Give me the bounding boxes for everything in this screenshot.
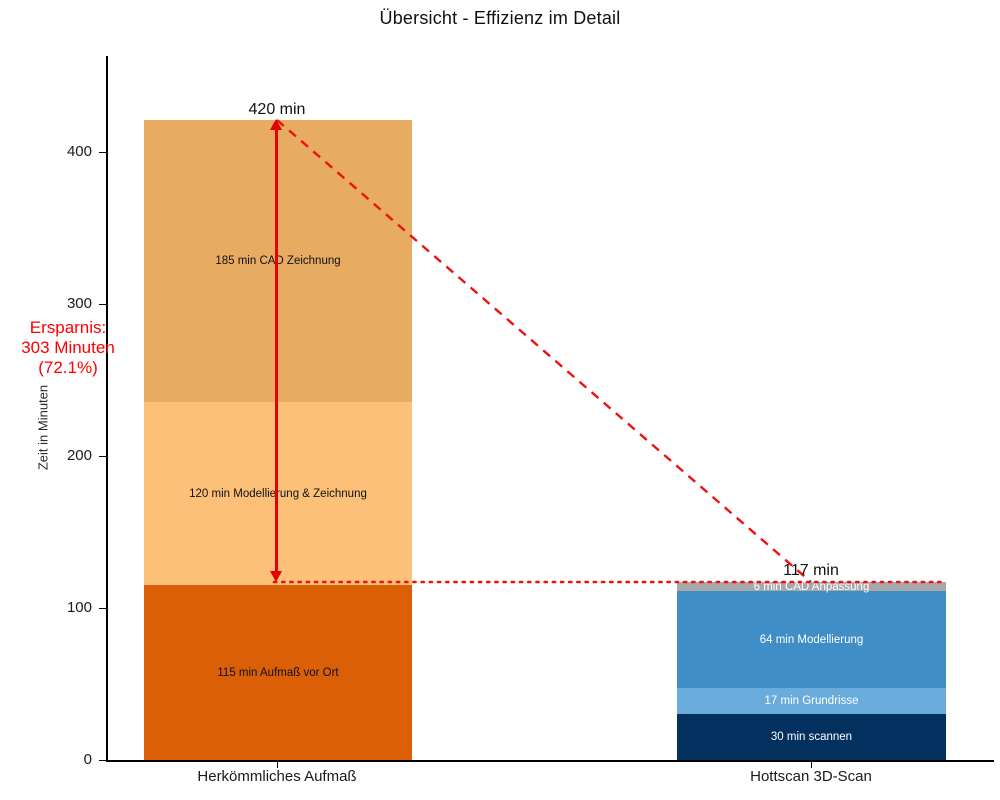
- bar-segment-label: 17 min Grundrisse: [765, 695, 859, 707]
- bar-segment-aufmass-vor-ort[interactable]: 115 min Aufmaß vor Ort: [144, 585, 412, 760]
- bar-segment-cad-anpassung[interactable]: 6 min CAD Anpassung: [677, 582, 946, 591]
- savings-arrow-head-top: [270, 119, 282, 130]
- chart-root: Übersicht - Effizienz im Detail 0 100 20…: [0, 0, 1000, 800]
- x-axis-spine: [106, 760, 994, 762]
- bar-segment-label: 30 min scannen: [771, 731, 852, 743]
- bar-segment-modellierung[interactable]: 64 min Modellierung: [677, 591, 946, 688]
- y-axis-title: Zeit in Minuten: [36, 358, 51, 498]
- y-tick-0: [99, 760, 106, 761]
- savings-line-1: Ersparnis:: [0, 318, 138, 338]
- savings-line-3: (72.1%): [0, 358, 138, 378]
- x-axis-label-traditional: Herkömmliches Aufmaß: [112, 768, 442, 785]
- x-tick-1: [811, 761, 812, 768]
- bar-segment-scannen[interactable]: 30 min scannen: [677, 714, 946, 760]
- y-axis-spine: [106, 56, 108, 761]
- bar-segment-label: 120 min Modellierung & Zeichnung: [189, 488, 367, 500]
- savings-line-2: 303 Minuten: [0, 338, 138, 358]
- chart-title: Übersicht - Effizienz im Detail: [0, 8, 1000, 29]
- bar-segment-modellierung-zeichnung[interactable]: 120 min Modellierung & Zeichnung: [144, 402, 412, 585]
- y-tick-label-100: 100: [32, 599, 92, 616]
- y-tick-200: [99, 456, 106, 457]
- bar-segment-label: 185 min CAD Zeichnung: [215, 255, 340, 267]
- y-tick-400: [99, 152, 106, 153]
- savings-arrow-head-bottom: [270, 571, 282, 582]
- total-label-traditional: 420 min: [207, 101, 347, 119]
- y-tick-label-0: 0: [32, 751, 92, 768]
- total-label-hottscan: 117 min: [741, 562, 881, 580]
- y-tick-100: [99, 608, 106, 609]
- y-tick-300: [99, 304, 106, 305]
- x-tick-0: [277, 761, 278, 768]
- bar-segment-grundrisse[interactable]: 17 min Grundrisse: [677, 688, 946, 714]
- bar-segment-label: 115 min Aufmaß vor Ort: [217, 667, 338, 679]
- bar-segment-label: 6 min CAD Anpassung: [754, 581, 870, 593]
- y-tick-label-300: 300: [32, 295, 92, 312]
- bar-segment-label: 64 min Modellierung: [760, 634, 864, 646]
- savings-arrow-shaft: [275, 126, 278, 576]
- bar-segment-cad-zeichnung[interactable]: 185 min CAD Zeichnung: [144, 120, 412, 402]
- savings-annotation: Ersparnis: 303 Minuten (72.1%): [0, 318, 138, 378]
- y-tick-label-400: 400: [32, 143, 92, 160]
- x-axis-label-hottscan: Hottscan 3D-Scan: [646, 768, 976, 785]
